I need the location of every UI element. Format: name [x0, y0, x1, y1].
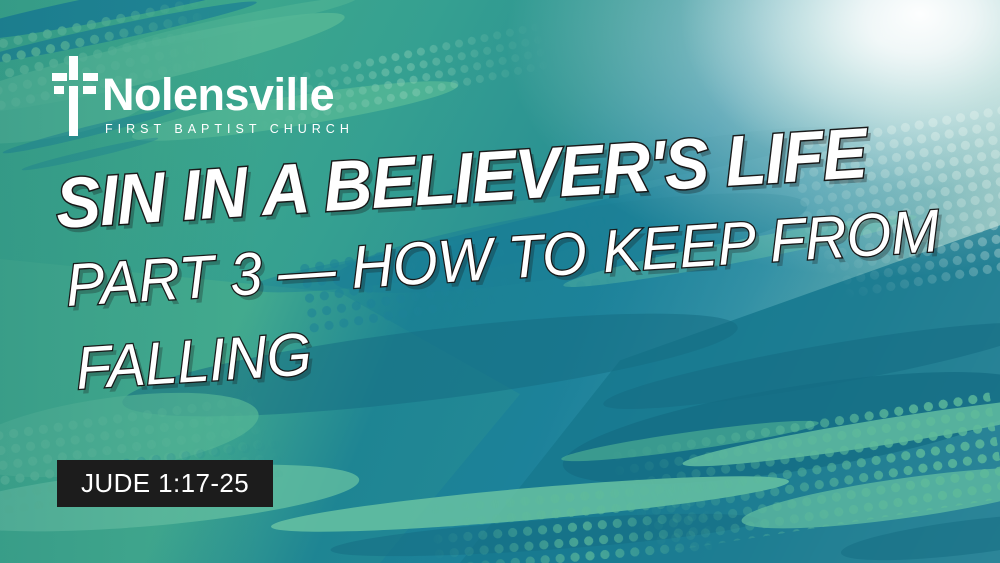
scripture-reference-badge: JUDE 1:17-25 — [57, 460, 273, 507]
logo-tagline: FIRST BAPTIST CHURCH — [105, 122, 354, 136]
church-logo: Nolensville FIRST BAPTIST CHURCH — [52, 56, 354, 136]
cross-icon — [52, 56, 98, 136]
logo-wordmark: Nolensville — [102, 74, 354, 117]
halftone-pattern — [427, 478, 713, 563]
scripture-reference-text: JUDE 1:17-25 — [81, 468, 249, 499]
sermon-title-graphic: Nolensville FIRST BAPTIST CHURCH SIN IN … — [0, 0, 1000, 563]
